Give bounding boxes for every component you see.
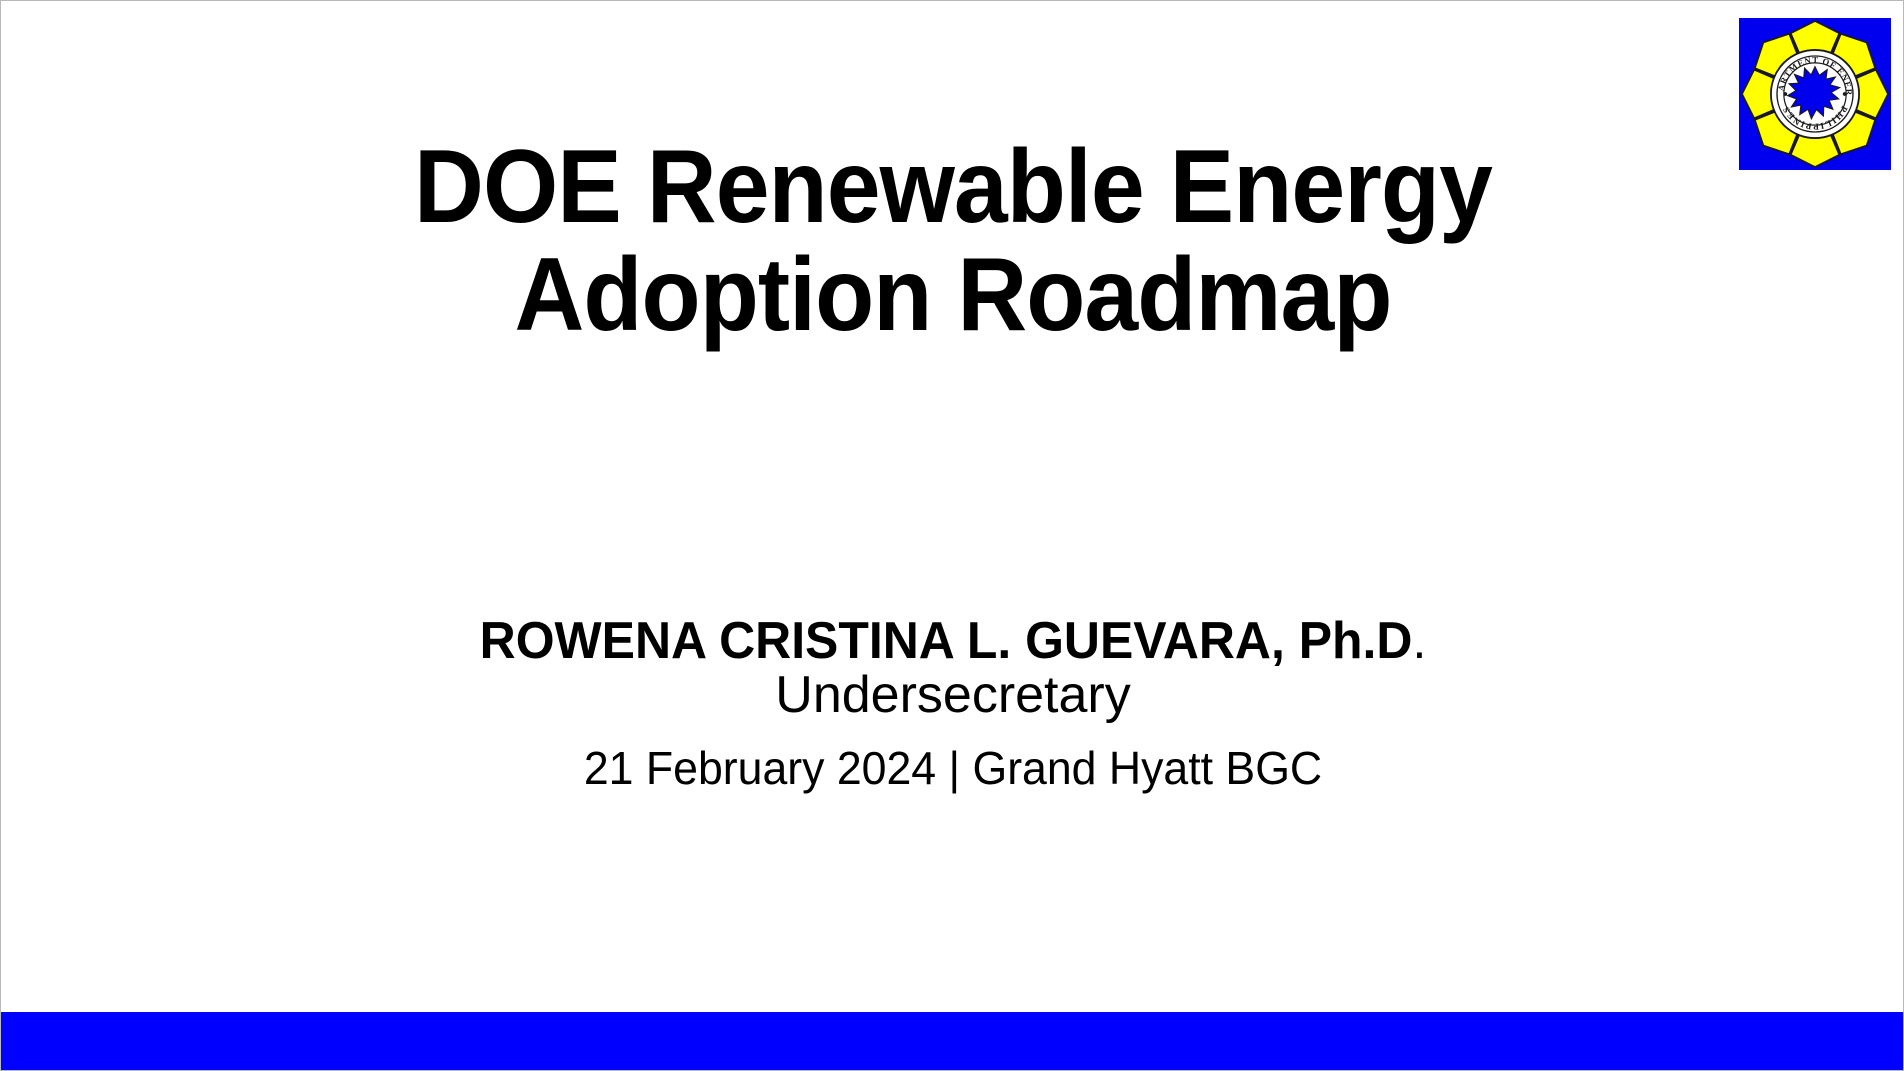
title-line-2: Adoption Roadmap (68, 241, 1839, 349)
slide-title: DOE Renewable Energy Adoption Roadmap (1, 133, 1904, 349)
event-date-venue: 21 February 2024 | Grand Hyatt BGC (30, 743, 1877, 793)
title-line-1: DOE Renewable Energy (68, 133, 1839, 241)
footer-accent-bar (1, 1012, 1904, 1070)
presenter-block: ROWENA CRISTINA L. GUEVARA, Ph.D. Unders… (1, 613, 1904, 723)
presenter-name-main: ROWENA CRISTINA L. GUEVARA, (480, 612, 1299, 670)
presenter-role: Undersecretary (1, 667, 1904, 723)
presenter-name: ROWENA CRISTINA L. GUEVARA, Ph.D. (39, 613, 1867, 669)
presenter-name-degree: Ph.D (1299, 612, 1413, 670)
presentation-slide: DEPARTMENT OF ENERGY PHILIPPINES DOE Ren… (0, 0, 1904, 1071)
presenter-name-period: . (1412, 612, 1426, 670)
